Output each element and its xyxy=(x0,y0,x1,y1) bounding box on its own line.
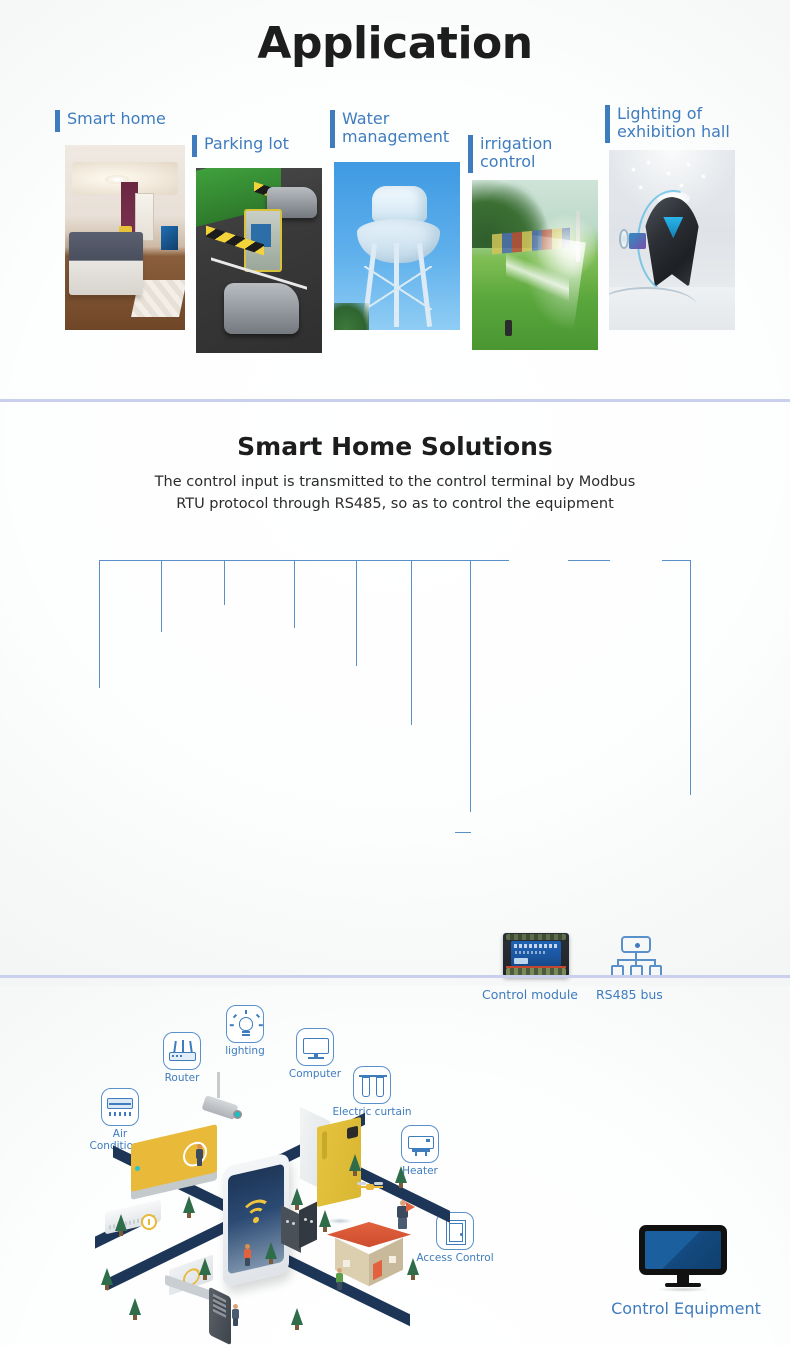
parking-lot-photo xyxy=(196,168,322,353)
device-label: Electric curtain xyxy=(322,1107,422,1119)
card-label-text: Lighting of exhibition hall xyxy=(617,105,730,141)
iso-drone xyxy=(357,1182,383,1196)
bus-line-to-rs485 xyxy=(568,560,610,561)
iso-tree xyxy=(407,1258,419,1275)
device-label: Router xyxy=(142,1073,222,1085)
iso-security-camera xyxy=(203,1094,245,1124)
iso-tree xyxy=(101,1268,113,1285)
label-accent-bar xyxy=(468,135,473,173)
drop-line-lighting xyxy=(224,560,225,605)
application-section: Application Smart home Parking lot xyxy=(0,0,790,401)
iso-tree xyxy=(115,1214,127,1231)
card-label-text: Water management xyxy=(342,110,449,146)
iso-person xyxy=(231,1304,239,1326)
label-accent-bar xyxy=(55,110,60,132)
card-label-water-management: Water management xyxy=(330,110,449,148)
iso-television xyxy=(131,1124,217,1192)
drop-line-air-conditioner xyxy=(99,560,100,688)
iso-tree xyxy=(395,1166,407,1183)
iso-tree xyxy=(265,1242,277,1259)
iso-tree xyxy=(183,1196,195,1213)
smart-home-solutions-section: Smart Home Solutions The control input i… xyxy=(0,402,790,975)
card-label-text: irrigation control xyxy=(480,135,552,171)
card-label-exhibition-hall: Lighting of exhibition hall xyxy=(605,105,730,143)
device-label: lighting xyxy=(205,1046,285,1058)
application-card-water-management[interactable]: Water management xyxy=(330,110,460,330)
computer-monitor-icon xyxy=(296,1028,334,1066)
smart-home-photo xyxy=(65,145,185,330)
solutions-title: Smart Home Solutions xyxy=(0,432,790,461)
label-accent-bar xyxy=(192,135,197,157)
control-equipment-label: Control Equipment xyxy=(596,1299,776,1318)
curtain-icon xyxy=(353,1066,391,1104)
control-module-label: Control module xyxy=(482,987,578,1002)
iso-tree xyxy=(291,1308,303,1325)
drop-line-heater xyxy=(411,560,412,725)
exhibition-hall-photo xyxy=(609,150,735,330)
device-node-lighting[interactable]: lighting xyxy=(205,1005,285,1058)
drop-line-electric-curtain xyxy=(356,560,357,666)
iso-person xyxy=(195,1144,203,1166)
drop-line-router xyxy=(161,560,162,632)
water-management-photo xyxy=(334,162,460,330)
application-card-parking-lot[interactable]: Parking lot xyxy=(192,135,322,353)
router-icon xyxy=(163,1032,201,1070)
rs485-bus-icon xyxy=(610,936,662,980)
application-card-irrigation-control[interactable]: irrigation control xyxy=(468,135,598,350)
bottom-divider xyxy=(0,975,790,978)
control-module-device-image[interactable] xyxy=(503,933,569,977)
card-label-text: Parking lot xyxy=(204,135,289,153)
drop-line-access-control xyxy=(470,560,471,812)
iso-server-rack xyxy=(281,1206,317,1250)
iso-tree xyxy=(199,1258,211,1275)
drop-line-computer xyxy=(294,560,295,628)
iso-tree xyxy=(129,1298,141,1315)
label-accent-bar xyxy=(605,105,610,143)
rs485-bus-label: RS485 bus xyxy=(596,987,663,1002)
iso-tree xyxy=(319,1210,331,1227)
card-label-text: Smart home xyxy=(67,110,166,128)
iso-person xyxy=(335,1268,343,1290)
iso-tree xyxy=(349,1154,361,1171)
card-label-irrigation-control: irrigation control xyxy=(468,135,552,173)
bus-line-rs485-right xyxy=(662,560,690,561)
page-title: Application xyxy=(0,18,790,69)
iso-clock xyxy=(141,1214,157,1230)
iso-door-lock xyxy=(209,1287,231,1345)
iso-tree xyxy=(291,1188,303,1205)
device-node-electric-curtain[interactable]: Electric curtain xyxy=(322,1066,422,1119)
light-bulb-icon xyxy=(226,1005,264,1043)
line-to-control-equipment xyxy=(690,560,691,795)
isometric-smart-home-illustration xyxy=(95,1122,455,1337)
iso-smartphone xyxy=(223,1152,289,1287)
application-card-exhibition-hall[interactable]: Lighting of exhibition hall xyxy=(605,105,740,330)
label-accent-bar xyxy=(330,110,335,148)
control-equipment-monitor-icon[interactable] xyxy=(639,1225,727,1287)
irrigation-control-photo xyxy=(472,180,598,350)
air-conditioner-icon xyxy=(101,1088,139,1126)
iso-person xyxy=(243,1244,251,1266)
branch-line-access-control xyxy=(455,832,471,833)
solutions-subtitle: The control input is transmitted to the … xyxy=(0,472,790,516)
card-label-smart-home: Smart home xyxy=(55,110,166,132)
card-label-parking-lot: Parking lot xyxy=(192,135,289,157)
iso-person-with-megaphone xyxy=(395,1200,413,1230)
application-card-smart-home[interactable]: Smart home xyxy=(55,110,185,330)
